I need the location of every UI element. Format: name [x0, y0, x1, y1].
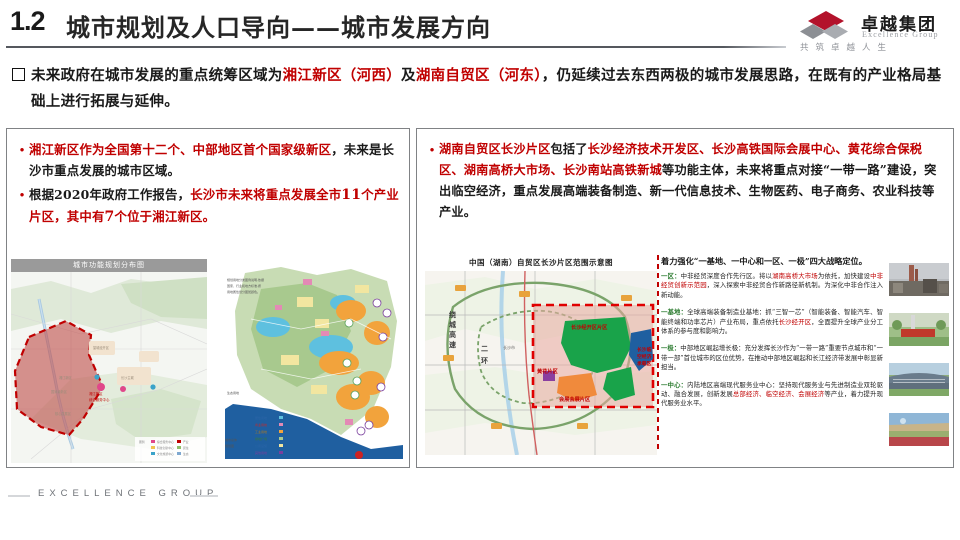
left-bullet-2-red1: 长沙市未来将重点发展全市 [190, 187, 341, 202]
svg-text:望城经开区: 望城经开区 [93, 345, 110, 350]
svg-text:城: 城 [449, 320, 456, 329]
svg-text:绿地广场: 绿地广场 [255, 436, 267, 441]
svg-text:规划用地分类图例说明,依据: 规划用地分类图例说明,依据 [227, 277, 264, 282]
header-divider [6, 46, 786, 48]
svg-text:商业用地: 商业用地 [255, 422, 267, 427]
logo-name-en: Excellence Group [862, 30, 939, 39]
photo-industrial-plant [889, 263, 949, 296]
svg-text:长沙经开区片区: 长沙经开区片区 [571, 323, 608, 331]
lead-highlight-2: 湖南自贸区（河东） [416, 67, 542, 84]
page-title: 城市规划及人口导向——城市发展方向 [66, 8, 491, 43]
svg-text:环: 环 [481, 356, 488, 365]
svg-text:用地属性划分图斑颜色。: 用地属性划分图斑颜色。 [227, 289, 260, 294]
left-bullet-2: 根据2020年政府工作报告，长沙市未来将重点发展全市11个产业片区，其中有7个位… [29, 184, 399, 228]
svg-text:长沙主城: 长沙主城 [121, 375, 135, 380]
svg-text:生态: 生态 [183, 452, 189, 456]
lead-part-1: 未来政府在城市发展的重点统筹区域为 [31, 67, 283, 84]
footer-rule-left [8, 495, 30, 497]
svg-text:高: 高 [449, 330, 456, 339]
left-bullet-1: 湘江新区作为全国第十二个、中部地区首个国家级新区，未来是长沙市重点发展的城市区域… [29, 139, 399, 181]
lead-paragraph: 未来政府在城市发展的重点统筹区域为湘江新区（河西）及湖南自贸区（河东），仍延续过… [12, 63, 948, 115]
strategy-0-key: 一区： [661, 272, 681, 280]
strategy-2-a: 中部地区崛起增长极：充分发挥长沙作为“一带一路”重要节点城市和“一带一部”首位城… [661, 344, 883, 371]
svg-text:长沙市: 长沙市 [503, 344, 515, 350]
svg-text:图例: 图例 [139, 440, 145, 444]
svg-text:产业: 产业 [183, 440, 189, 444]
right-panel-bullets: • 湖南自贸区长沙片区包括了长沙经济技术开发区、长沙高铁国际会展中心、黄花综合保… [417, 129, 953, 223]
right-bullet-1: 湖南自贸区长沙片区包括了长沙经济技术开发区、长沙高铁国际会展中心、黄花综合保税区… [439, 139, 943, 223]
strategy-item-yiqu: 一区：中非经贸深度合作先行区。将以湖南高桥大市场为依托，加快建设中非经贸创新示范… [661, 272, 883, 300]
right-bullet-1-red1: 湖南自贸区长沙片区 [439, 142, 551, 156]
strategy-0-b: 为依托，加快建设 [818, 272, 870, 280]
map-free-trade-zone: 长沙经开区片区 会展会展片区 黄花片区 长沙临空经济承载区 绕城高速 二环 长沙… [425, 255, 657, 455]
lead-text: 未来政府在城市发展的重点统筹区域为湘江新区（河西）及湖南自贸区（河东），仍延续过… [31, 63, 948, 115]
svg-text:综合服务中心: 综合服务中心 [157, 440, 174, 444]
left-bullet-2-red3: 个位于湘江新区。 [115, 209, 216, 224]
strategy-1-hl-a: 长沙经开区 [779, 318, 812, 326]
map-free-trade-zone-caption: 中国（湖南）自贸区长沙片区范围示意图 [425, 257, 657, 268]
svg-text:科技创新中心: 科技创新中心 [157, 446, 174, 450]
list-item: • 根据2020年政府工作报告，长沙市未来将重点发展全市11个产业片区，其中有7… [15, 184, 399, 228]
svg-text:其他用地: 其他用地 [255, 450, 267, 455]
map-land-use-plan: 规划用地分类图例说明,依据 国家、行业和地方标准,按 用地属性划分图斑颜色。 生… [211, 259, 407, 463]
svg-text:湘江新区: 湘江新区 [89, 391, 103, 396]
svg-text:核心发展区: 核心发展区 [55, 411, 72, 416]
strategy-item-yiji: 一极：中部地区崛起增长极：充分发挥长沙作为“一带一路”重要节点城市和“一带一部”… [661, 344, 883, 372]
svg-text:居住用地: 居住用地 [255, 415, 267, 420]
strategy-0-hl-a: 湖南高桥大市场 [772, 272, 818, 280]
strategy-title: 着力强化“一基地、一中心和一区、一极”四大战略定位。 [661, 255, 883, 268]
svg-text:国家级新区: 国家级新区 [51, 389, 68, 394]
footer-rule-right [190, 495, 218, 497]
footer-text: EXCELLENCE GROUP [38, 488, 218, 499]
list-item: • 湘江新区作为全国第十二个、中部地区首个国家级新区，未来是长沙市重点发展的城市… [15, 139, 399, 181]
strategy-2-key: 一极： [661, 344, 680, 352]
lead-highlight-1: 湘江新区（河西） [283, 67, 401, 84]
strategy-item-yizhongxin: 一中心：内陆地区高端现代服务业中心：坚持现代服务业与先进制造业双轮驱动、融合发展… [661, 381, 883, 409]
dashed-divider [657, 255, 659, 455]
left-bullet-2-num2: 7 [105, 209, 115, 225]
section-number: 1.2 [10, 6, 45, 37]
svg-text:生态用地: 生态用地 [227, 390, 239, 395]
right-panel-content: 长沙经开区片区 会展会展片区 黄花片区 长沙临空经济承载区 绕城高速 二环 长沙… [421, 255, 951, 463]
svg-text:综合服务中心: 综合服务中心 [89, 397, 110, 402]
strategy-3-key: 一中心： [661, 381, 687, 389]
svg-text:绕: 绕 [449, 310, 456, 319]
svg-text:二: 二 [481, 344, 488, 353]
bullet-dot-icon: • [425, 139, 439, 160]
left-panel-images: 湘江新区 国家级新区 核心发展区 望城经开区 长沙主城 湘江新区 综合服务中心 … [11, 259, 407, 463]
svg-text:居住: 居住 [183, 446, 189, 450]
list-item: • 湖南自贸区长沙片区包括了长沙经济技术开发区、长沙高铁国际会展中心、黄花综合保… [425, 139, 943, 223]
strategy-text-block: 着力强化“一基地、一中心和一区、一极”四大战略定位。 一区：中非经贸深度合作先行… [661, 255, 883, 455]
strategy-3-hl-a: 总部经济、临空经济、会展经济 [733, 390, 824, 398]
svg-text:湘江新区: 湘江新区 [59, 375, 73, 380]
strategy-1-key: 一基地： [661, 308, 687, 316]
left-bullet-1-red: 湘江新区作为全国第十二个、中部地区首个国家级新区 [29, 142, 331, 157]
lead-part-2: 及 [401, 67, 416, 84]
svg-text:承载区: 承载区 [637, 360, 652, 367]
svg-text:工业用地: 工业用地 [255, 429, 267, 434]
photo-monument-plaza [889, 313, 949, 346]
slide-footer: EXCELLENCE GROUP [0, 486, 960, 506]
left-bullet-2-num1: 11 [341, 187, 361, 203]
svg-text:规划图: 规划图 [225, 443, 234, 448]
logo-diamond-icon [800, 11, 858, 45]
svg-text:长沙临: 长沙临 [637, 346, 652, 353]
svg-text:会展会展片区: 会展会展片区 [559, 395, 591, 403]
logo-slogan: 共筑卓越人生 [800, 41, 893, 53]
bullet-square-icon [12, 68, 25, 81]
right-bullet-1-black1: 包括了 [551, 142, 588, 156]
left-panel: • 湘江新区作为全国第十二个、中部地区首个国家级新区，未来是长沙市重点发展的城市… [6, 128, 410, 468]
map-a-caption: 城市功能规划分布图 [11, 259, 207, 272]
svg-text:文化旅游中心: 文化旅游中心 [157, 452, 174, 456]
svg-text:速: 速 [449, 340, 456, 349]
bullet-dot-icon: • [15, 184, 29, 205]
svg-text:空经济: 空经济 [637, 353, 652, 360]
bullet-dot-icon: • [15, 139, 29, 160]
left-bullet-2-black: 根据2020年政府工作报告， [29, 187, 190, 202]
slide-root: 1.2 城市规划及人口导向——城市发展方向 卓越集团 Excellence Gr… [0, 0, 960, 540]
svg-text:黄花片区: 黄花片区 [537, 367, 559, 375]
photo-exhibition-hall [889, 363, 949, 396]
svg-text:城市总体: 城市总体 [225, 437, 237, 442]
strategy-0-a: 中非经贸深度合作先行区。将以 [681, 272, 772, 280]
map-city-function-plan: 湘江新区 国家级新区 核心发展区 望城经开区 长沙主城 湘江新区 综合服务中心 … [11, 259, 207, 463]
svg-text:公用设施: 公用设施 [255, 443, 267, 448]
svg-text:国家、行业和地方标准,按: 国家、行业和地方标准,按 [227, 283, 261, 288]
photo-strip [889, 255, 949, 455]
right-panel: • 湖南自贸区长沙片区包括了长沙经济技术开发区、长沙高铁国际会展中心、黄花综合保… [416, 128, 954, 468]
strategy-item-yijidi: 一基地：全球高端装备制造业基地：抓“三智一芯”（智能装备、智能汽车、智能终端和功… [661, 308, 883, 336]
company-logo: 卓越集团 Excellence Group 共筑卓越人生 [795, 8, 955, 52]
photo-airport-runway [889, 413, 949, 446]
left-panel-bullets: • 湘江新区作为全国第十二个、中部地区首个国家级新区，未来是长沙市重点发展的城市… [7, 129, 409, 228]
